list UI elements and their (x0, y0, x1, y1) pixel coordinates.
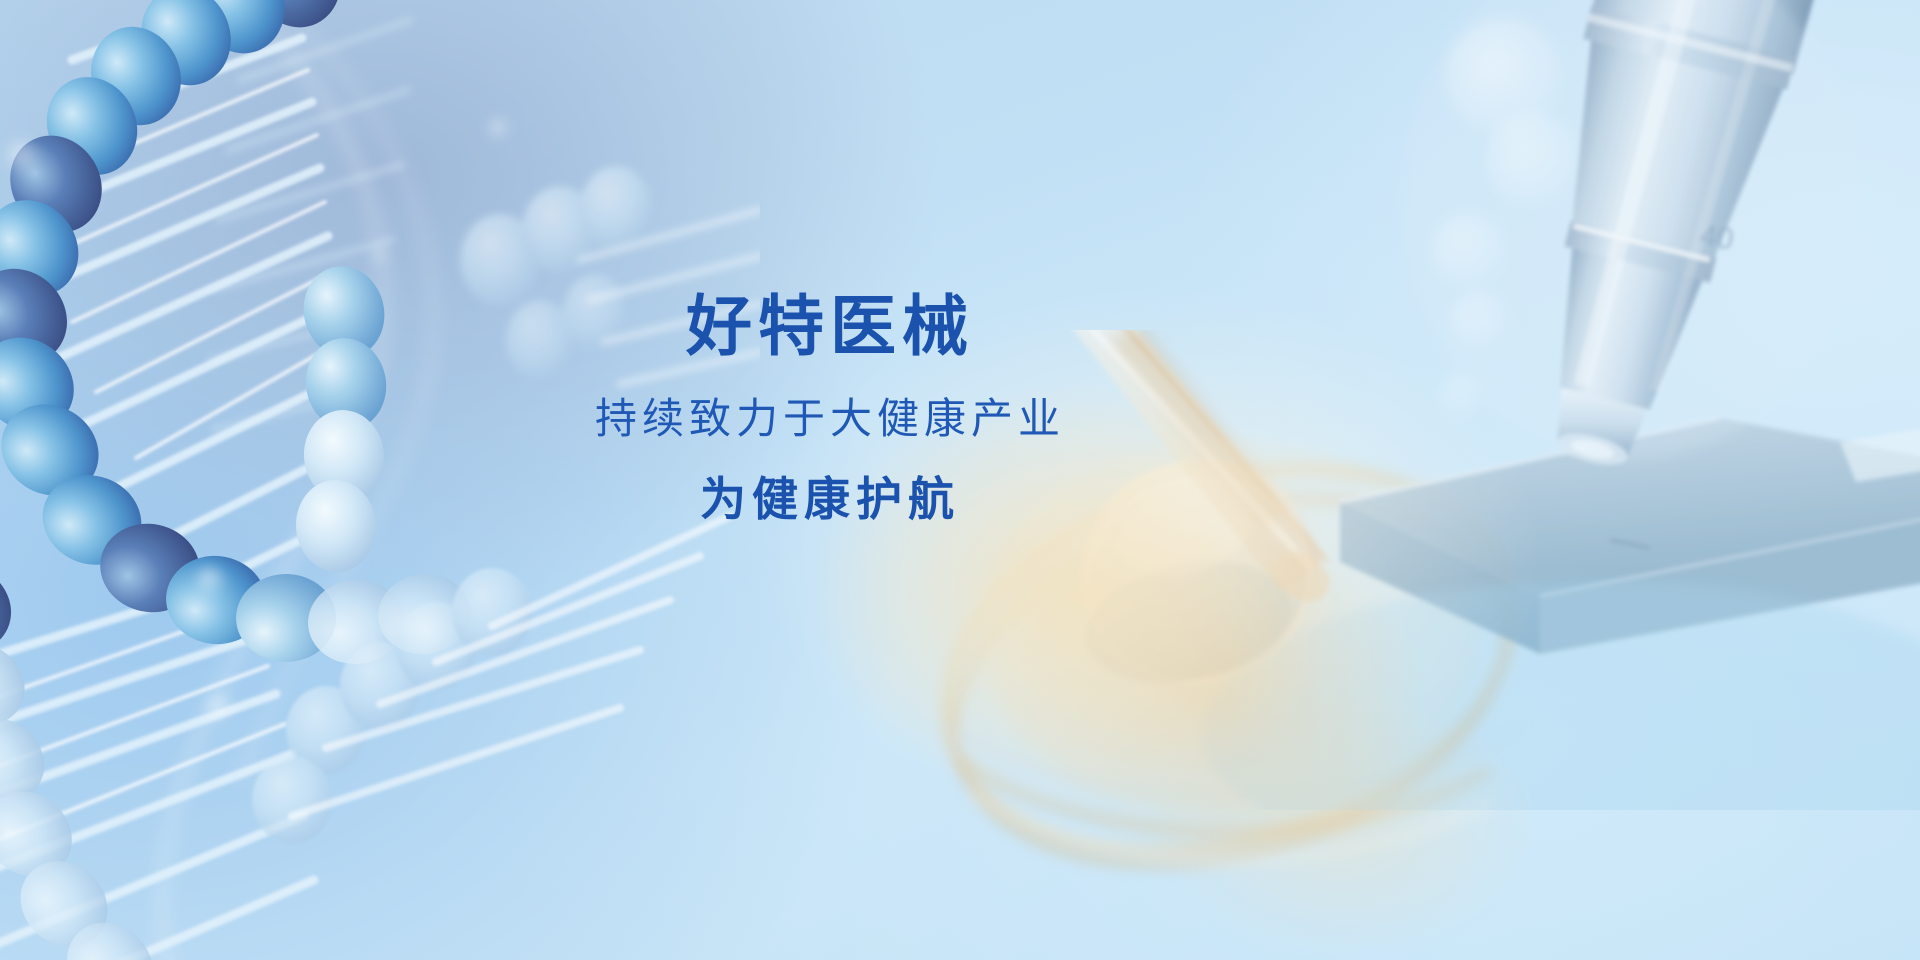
bokeh-dot (196, 566, 226, 596)
bokeh-dot (6, 140, 40, 174)
bokeh-dot (206, 694, 234, 722)
banner-text-block: 好特医械 持续致力于大健康产业 为健康护航 (0, 290, 1660, 527)
bokeh-dot (1485, 112, 1581, 208)
bokeh-dot (372, 248, 388, 264)
banner-tagline: 为健康护航 (0, 472, 1660, 527)
banner-subheadline: 持续致力于大健康产业 (0, 394, 1660, 444)
bokeh-dot (488, 118, 510, 140)
page-title: 好特医械 (0, 290, 1660, 364)
bokeh-dot (1430, 212, 1508, 290)
hero-banner: 40 好特医械 持续致力于大健康产业 为健康护航 (0, 0, 1920, 960)
